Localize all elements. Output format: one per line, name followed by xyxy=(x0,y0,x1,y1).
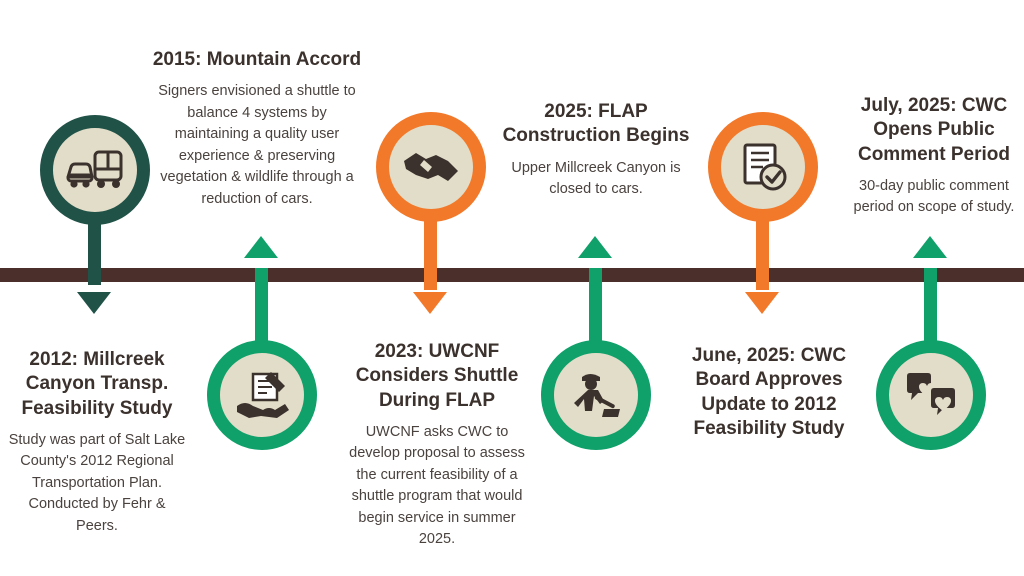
pointer-cwc-public-comment-period xyxy=(913,236,947,258)
document-check-icon xyxy=(737,141,789,193)
event-block-millcreek-feasibility-study: 2012: Millcreek Canyon Transp. Feasibili… xyxy=(8,348,186,537)
event-title-flap-construction-begins: 2025: FLAP Construction Begins xyxy=(498,100,694,149)
event-body-flap-construction-begins: Upper Millcreek Canyon is closed to cars… xyxy=(498,158,694,201)
event-title-mountain-accord: 2015: Mountain Accord xyxy=(152,48,362,72)
event-title-cwc-board-approves-update: June, 2025: CWC Board Approves Update to… xyxy=(674,344,864,441)
badge-cwc-board-approves-update xyxy=(708,112,818,222)
timeline-bar xyxy=(0,268,1024,282)
event-body-uwcnf-considers-shuttle: UWCNF asks CWC to develop proposal to as… xyxy=(344,422,530,551)
event-block-uwcnf-considers-shuttle: 2023: UWCNF Considers Shuttle During FLA… xyxy=(344,340,530,551)
pointer-cwc-board-approves-update xyxy=(745,292,779,314)
event-body-millcreek-feasibility-study: Study was part of Salt Lake County's 201… xyxy=(8,430,186,537)
road-worker-icon xyxy=(570,369,622,421)
event-block-flap-construction-begins: 2025: FLAP Construction Begins Upper Mil… xyxy=(498,100,694,201)
pointer-flap-construction-begins xyxy=(578,236,612,258)
pointer-uwcnf-considers-shuttle xyxy=(413,292,447,314)
event-block-cwc-public-comment-period: July, 2025: CWC Opens Public Comment Per… xyxy=(845,94,1023,219)
event-body-cwc-public-comment-period: 30-day public comment period on scope of… xyxy=(845,176,1023,219)
event-body-mountain-accord: Signers envisioned a shuttle to balance … xyxy=(152,81,362,210)
badge-uwcnf-considers-shuttle xyxy=(376,112,486,222)
handshake-document-icon xyxy=(233,370,291,420)
badge-cwc-public-comment-period xyxy=(876,340,986,450)
badge-millcreek-feasibility-study xyxy=(40,115,150,225)
pointer-millcreek-feasibility-study xyxy=(77,292,111,314)
speech-bubbles-icon xyxy=(904,371,958,419)
handshake-icon xyxy=(402,147,460,187)
car-and-bus-icon xyxy=(65,147,125,193)
event-block-cwc-board-approves-update: June, 2025: CWC Board Approves Update to… xyxy=(674,344,864,450)
event-title-cwc-public-comment-period: July, 2025: CWC Opens Public Comment Per… xyxy=(845,94,1023,167)
badge-mountain-accord xyxy=(207,340,317,450)
badge-flap-construction-begins xyxy=(541,340,651,450)
event-title-millcreek-feasibility-study: 2012: Millcreek Canyon Transp. Feasibili… xyxy=(8,348,186,421)
event-title-uwcnf-considers-shuttle: 2023: UWCNF Considers Shuttle During FLA… xyxy=(344,340,530,413)
pointer-mountain-accord xyxy=(244,236,278,258)
event-block-mountain-accord: 2015: Mountain Accord Signers envisioned… xyxy=(152,48,362,210)
